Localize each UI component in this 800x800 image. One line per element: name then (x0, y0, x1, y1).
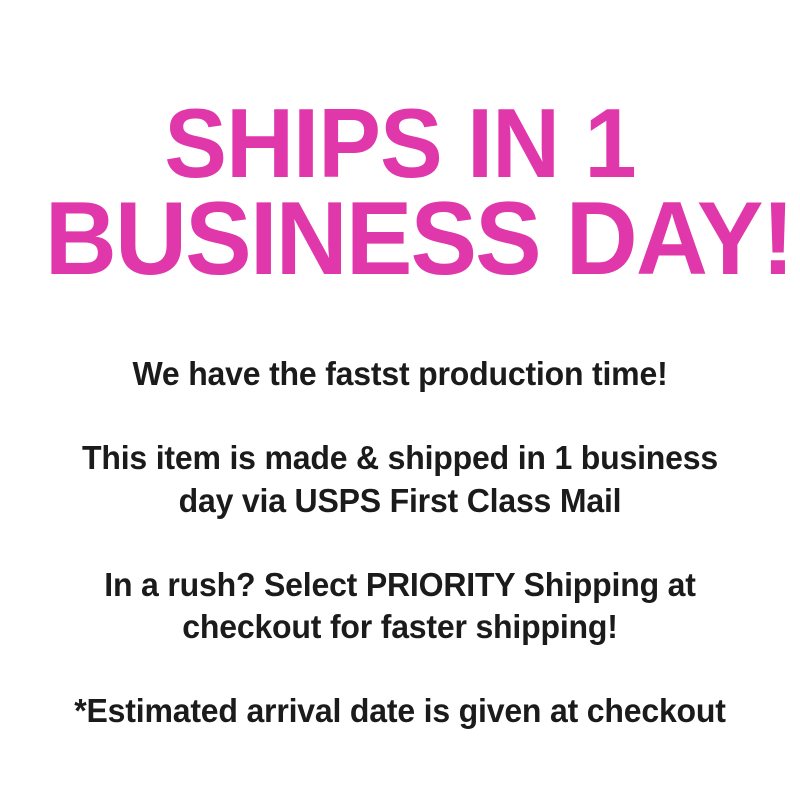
paragraph-production-time-line-1: We have the fastst production time! (49, 353, 751, 396)
paragraph-production-time: We have the fastst production time! (49, 353, 751, 396)
headline-line-1: SHIPS IN 1 (45, 96, 755, 190)
body-copy: We have the fastst production time! This… (20, 290, 780, 733)
paragraph-shipping-method: This item is made & shipped in 1 busines… (49, 437, 751, 523)
paragraph-estimated-arrival-note: *Estimated arrival date is given at chec… (49, 690, 751, 733)
headline: SHIPS IN 1 BUSINESS DAY! (45, 96, 755, 290)
shipping-info-poster: SHIPS IN 1 BUSINESS DAY! We have the fas… (0, 0, 800, 800)
paragraph-shipping-method-line-2: day via USPS First Class Mail (49, 480, 751, 523)
paragraph-priority-upgrade-line-1: In a rush? Select PRIORITY Shipping at (49, 564, 751, 607)
paragraph-priority-upgrade-line-2: checkout for faster shipping! (49, 606, 751, 649)
paragraph-shipping-method-line-1: This item is made & shipped in 1 busines… (49, 437, 751, 480)
paragraph-priority-upgrade: In a rush? Select PRIORITY Shipping at c… (49, 564, 751, 650)
headline-line-2: BUSINESS DAY! (45, 190, 755, 290)
paragraph-estimated-arrival-note-line-1: *Estimated arrival date is given at chec… (49, 690, 751, 733)
